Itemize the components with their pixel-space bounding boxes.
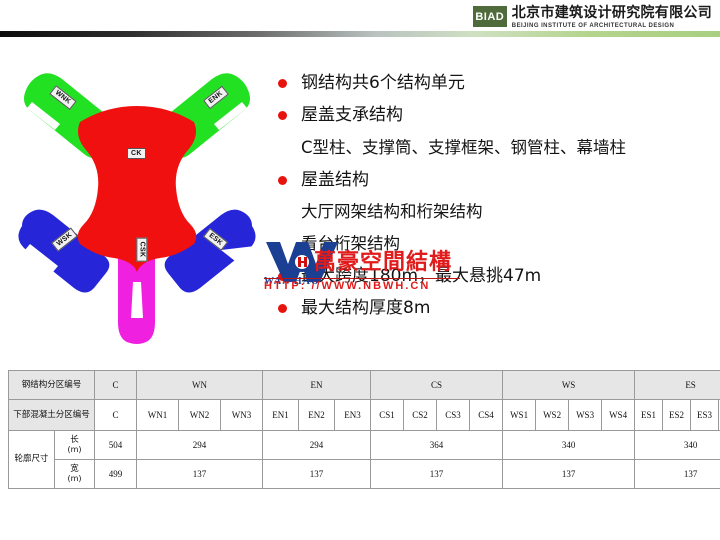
sub-zone-c: C — [95, 400, 137, 431]
width-en: 137 — [263, 460, 371, 489]
bullet-dot-icon — [278, 272, 287, 281]
row-label-length-text: 长 — [70, 435, 79, 445]
table-row-steel-zone: 钢结构分区编号 C WN EN CS WS ES — [9, 371, 720, 400]
sub-zone-cs3: CS3 — [437, 400, 470, 431]
sub-zone-cs1: CS1 — [371, 400, 404, 431]
bullet-item: 最大结构厚度8m — [278, 297, 712, 319]
zone-label-ck: CK — [127, 148, 146, 159]
bullet-dot-icon — [278, 176, 287, 185]
row-label-concrete-zone: 下部混凝土分区编号 — [9, 400, 95, 431]
group-header-c: C — [95, 371, 137, 400]
company-name-cn: 北京市建筑设计研究院有限公司 — [512, 6, 712, 20]
biad-logo-text: 北京市建筑设计研究院有限公司 BEIJING INSTITUTE OF ARCH… — [512, 6, 712, 29]
row-label-width-unit: (m) — [55, 474, 94, 484]
company-name-en: BEIJING INSTITUTE OF ARCHITECTURAL DESIG… — [512, 23, 712, 29]
length-ws: 340 — [503, 431, 635, 460]
bullet-text: 屋盖结构 — [301, 169, 369, 191]
bullet-text: 最大结构厚度8m — [301, 297, 430, 319]
bullet-dot-icon — [278, 304, 287, 313]
zone-spec-table: 钢结构分区编号 C WN EN CS WS ES 下部混凝土分区编号 C WN1… — [8, 370, 720, 489]
sub-zone-ws1: WS1 — [503, 400, 536, 431]
table-row-concrete-zone: 下部混凝土分区编号 C WN1 WN2 WN3 EN1 EN2 EN3 CS1 … — [9, 400, 720, 431]
sub-zone-es1: ES1 — [635, 400, 663, 431]
row-label-steel-zone: 钢结构分区编号 — [9, 371, 95, 400]
sub-zone-cs4: CS4 — [470, 400, 503, 431]
bullet-item: 大厅网架结构和桁架结构 — [278, 201, 712, 223]
bullet-text: 看台桁架结构 — [301, 233, 400, 255]
sub-zone-es3: ES3 — [691, 400, 719, 431]
bullet-dot-icon — [278, 79, 287, 88]
width-es: 137 — [635, 460, 720, 489]
bullet-list: 钢结构共6个结构单元 屋盖支承结构 C型柱、支撑筒、支撑框架、钢管柱、幕墙柱 屋… — [278, 72, 712, 329]
sub-zone-en1: EN1 — [263, 400, 299, 431]
row-label-length-unit: (m) — [55, 445, 94, 455]
row-label-width-text: 宽 — [70, 464, 79, 474]
sub-zone-es2: ES2 — [663, 400, 691, 431]
group-header-ws: WS — [503, 371, 635, 400]
page-header: BIAD 北京市建筑设计研究院有限公司 BEIJING INSTITUTE OF… — [0, 0, 720, 44]
width-wn: 137 — [137, 460, 263, 489]
biad-logo-mark: BIAD — [473, 6, 507, 27]
group-header-cs: CS — [371, 371, 503, 400]
sub-zone-cs2: CS2 — [404, 400, 437, 431]
biad-logo: BIAD 北京市建筑设计研究院有限公司 BEIJING INSTITUTE OF… — [473, 6, 712, 29]
bullet-item: 看台桁架结构 — [278, 233, 712, 255]
group-header-es: ES — [635, 371, 720, 400]
row-label-outline: 轮廓尺寸 — [9, 431, 55, 489]
length-en: 294 — [263, 431, 371, 460]
zone-label-csk: CSK — [136, 238, 147, 262]
bullet-item: 屋盖支承结构 — [278, 104, 712, 126]
structure-diagram: WNK ENK CK WSK ESK CSK — [8, 58, 266, 348]
sub-zone-en2: EN2 — [299, 400, 335, 431]
table-row-width: 宽 (m) 499 137 137 137 137 137 — [9, 460, 720, 489]
group-header-wn: WN — [137, 371, 263, 400]
length-es: 340 — [635, 431, 720, 460]
sub-zone-wn2: WN2 — [179, 400, 221, 431]
width-c: 499 — [95, 460, 137, 489]
width-ws: 137 — [503, 460, 635, 489]
row-label-length: 长 (m) — [55, 431, 95, 460]
row-label-width: 宽 (m) — [55, 460, 95, 489]
sub-zone-ws3: WS3 — [569, 400, 602, 431]
bullet-item: 最大跨度180m，最大悬挑47m — [278, 265, 712, 287]
length-c: 504 — [95, 431, 137, 460]
bullet-text: 最大跨度180m，最大悬挑47m — [301, 265, 541, 287]
sub-zone-wn1: WN1 — [137, 400, 179, 431]
bullet-text: C型柱、支撑筒、支撑框架、钢管柱、幕墙柱 — [301, 137, 626, 159]
sub-zone-wn3: WN3 — [221, 400, 263, 431]
bullet-dot-icon — [278, 111, 287, 120]
bullet-text: 屋盖支承结构 — [301, 104, 403, 126]
bullet-item: 钢结构共6个结构单元 — [278, 72, 712, 94]
bullet-text: 钢结构共6个结构单元 — [301, 72, 465, 94]
arm-slot-csk — [131, 282, 143, 318]
structure-diagram-svg — [8, 58, 266, 348]
length-cs: 364 — [371, 431, 503, 460]
header-gradient-rule — [0, 31, 720, 37]
bullet-text: 大厅网架结构和桁架结构 — [301, 201, 483, 223]
length-wn: 294 — [137, 431, 263, 460]
sub-zone-en3: EN3 — [335, 400, 371, 431]
bullet-item: C型柱、支撑筒、支撑框架、钢管柱、幕墙柱 — [278, 137, 712, 159]
sub-zone-ws2: WS2 — [536, 400, 569, 431]
width-cs: 137 — [371, 460, 503, 489]
bullet-item: 屋盖结构 — [278, 169, 712, 191]
group-header-en: EN — [263, 371, 371, 400]
sub-zone-ws4: WS4 — [602, 400, 635, 431]
table-row-length: 轮廓尺寸 长 (m) 504 294 294 364 340 340 — [9, 431, 720, 460]
